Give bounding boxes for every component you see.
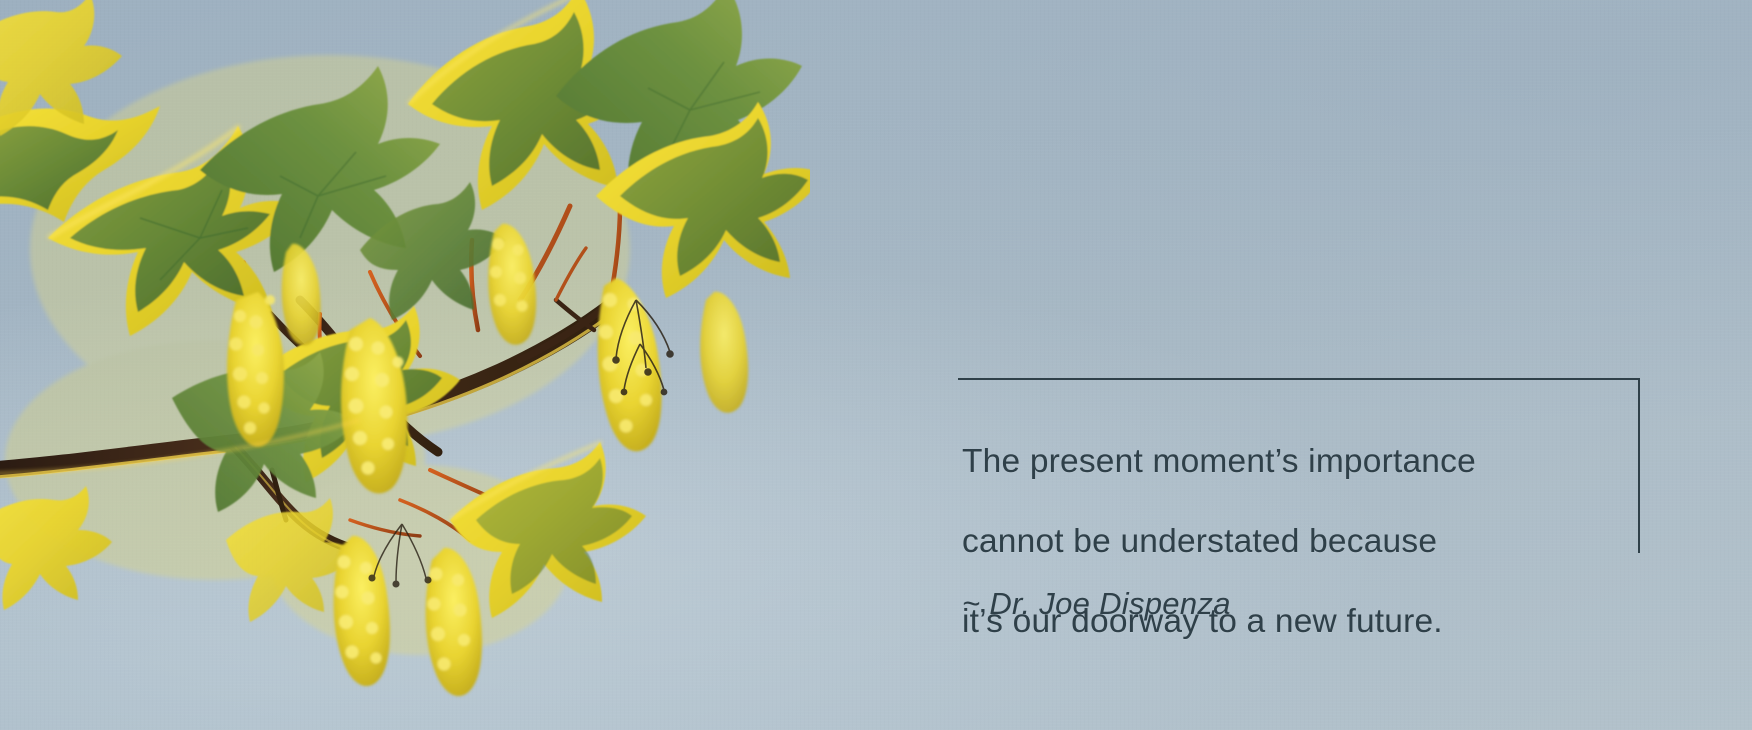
catkin: [700, 292, 748, 413]
quote-attribution: ~ Dr. Joe Dispenza: [962, 584, 1231, 624]
quote-text: The present moment’s importance cannot b…: [962, 402, 1622, 682]
quote-line-2: cannot be understated because: [962, 522, 1622, 562]
catkin: [598, 278, 662, 451]
maple-branch-illustration: [0, 0, 810, 730]
quote-line-1: The present moment’s importance: [962, 442, 1622, 482]
quote-banner: The present moment’s importance cannot b…: [0, 0, 1752, 730]
